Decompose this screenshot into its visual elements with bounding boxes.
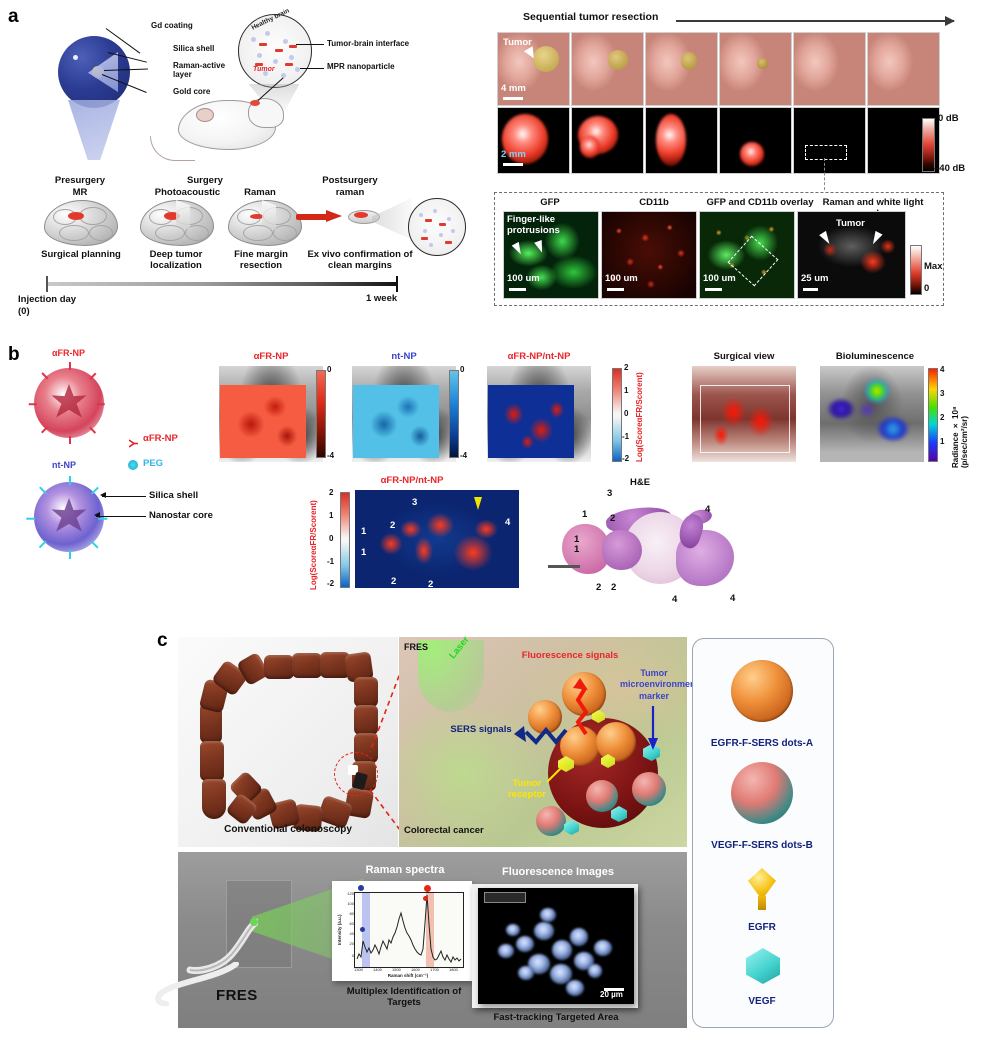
- histology-title-2: GFP and CD11b overlay: [700, 198, 820, 209]
- label-nt-np-particle: nt-NP: [52, 460, 76, 470]
- raman-spectra-caption: Multiplex Identification of Targets: [330, 986, 478, 1009]
- label-tumor-brain-interface: Tumor-brain interface: [327, 40, 409, 49]
- raman-spectra-caption-text: Multiplex Identification of Targets: [347, 986, 462, 1008]
- surgical-roi-box: [700, 385, 790, 453]
- roi-dashed-box[interactable]: [805, 145, 847, 160]
- colorbar-tissue-ratio: [340, 492, 350, 588]
- scalebar-raman: [503, 163, 523, 166]
- scalebar-cd11b: [607, 288, 624, 291]
- spectra-ytick-0: 0: [352, 954, 354, 958]
- fluorescence-signals-label: Fluorescence signals: [515, 650, 625, 661]
- colorbar-ratio: [612, 368, 622, 462]
- annotation-finger-like: Finger-like protrusions: [507, 215, 573, 236]
- legend-label-vegf: VEGF: [694, 996, 830, 1007]
- stage-3-caption: Ex vivo confirmation of clean margins: [306, 250, 414, 271]
- arrowhead-nanostar-core: [94, 512, 100, 518]
- histology-image-cd11b: [601, 211, 697, 299]
- stage-0-subtitle: MR: [30, 188, 130, 199]
- tissue-ratio-title: αFR-NP/nt-NP: [352, 476, 472, 487]
- leader-mpr-nanoparticle: [300, 68, 324, 69]
- nt-peg-6: [26, 518, 35, 520]
- stage-0-caption: Surgical planning: [22, 250, 140, 261]
- specimen-tumor-spot: [354, 212, 368, 218]
- stage-3-subtitle: raman: [300, 188, 400, 199]
- scalebar-gfp: [509, 288, 526, 291]
- resection-photo-2: [645, 32, 718, 106]
- sers-signals-text: SERS signals: [450, 724, 511, 735]
- tumor-microenvironment-label: Tumor microenvironment marker: [620, 668, 688, 702]
- spectra-xtick-1700: 1700: [430, 967, 439, 972]
- timeline-bar: [46, 282, 398, 286]
- colorbar-max-top: Max: [924, 262, 942, 273]
- label-nanostar-core: Nanostar core: [149, 511, 213, 522]
- raman-spectra-title: Raman spectra: [330, 864, 480, 876]
- spectra-yticks: 120 100 80 60 40 20 0: [344, 890, 354, 968]
- spectra-marker-red-inplot-icon: [423, 896, 428, 901]
- spectra-ytick-120: 120: [347, 892, 354, 896]
- sers-dot-b-2: [632, 772, 666, 806]
- legend-label-vegf-sers-dots: VEGF-F-SERS dots-B: [694, 840, 830, 851]
- leader-nanostar-core: [96, 516, 146, 517]
- nt-peg-5: [39, 541, 46, 548]
- colorbar-nt: [449, 370, 459, 458]
- sequential-resection-header: Sequential tumor resection: [523, 12, 658, 24]
- legend-icon-egfr-sers-dot: [731, 660, 793, 722]
- legend-peg-label: PEG: [143, 459, 163, 470]
- legend-afr-np-label: αFR-NP: [143, 434, 178, 445]
- stage-2-caption: Fine margin resection: [222, 250, 300, 271]
- colorbar-db-top: 0 dB: [938, 114, 959, 125]
- tissue-num-1a: 1: [361, 527, 366, 538]
- label-gd-coating: Gd coating: [151, 22, 193, 31]
- scalebar-overlay-label: 100 um: [703, 274, 736, 285]
- mouse-tail: [150, 136, 195, 161]
- bimg-title-nt: nt-NP: [352, 352, 456, 363]
- tissue-num-4c: 4: [505, 518, 510, 529]
- legend-peg-icon: [128, 460, 138, 470]
- colorbar-afr-bottom: -4: [327, 452, 334, 461]
- tissue-num-4a: 4: [456, 594, 461, 605]
- tissue-num-2c: 2: [428, 580, 433, 591]
- legend-icon-vegf-sers-dot: [731, 762, 793, 824]
- hne-num-4b: 4: [672, 595, 677, 606]
- timeline-tick-start: [46, 276, 48, 292]
- scalebar-raman-overlay-label: 25 um: [801, 274, 828, 285]
- annotation-tumor-raman: Tumor: [836, 219, 865, 230]
- stage-1-title: Surgery: [155, 176, 255, 187]
- hne-num-4a: 4: [705, 505, 710, 516]
- fluorescence-image: [478, 888, 634, 1004]
- microenvironment-arrow-icon: [648, 706, 658, 750]
- label-gold-core: Gold core: [173, 88, 210, 97]
- sers-signals-label: SERS signals: [450, 724, 512, 735]
- tissue-num-4b: 4: [512, 594, 517, 605]
- sequential-arrow-icon: [676, 20, 954, 22]
- resection-raman-4: [793, 107, 866, 174]
- colorbar-nt-top: 0: [460, 366, 464, 375]
- sers-dot-b-1: [586, 780, 618, 812]
- raman-spectra-plot: [354, 892, 464, 968]
- spectra-ytick-60: 60: [350, 922, 354, 926]
- label-tumor-inset: Tumor: [253, 66, 275, 74]
- bimg-afr: [219, 366, 323, 462]
- spectra-xtick-1300: 1300: [354, 967, 363, 972]
- label-mpr-nanoparticle: MPR nanoparticle: [327, 63, 395, 72]
- timeline-tick-end: [396, 276, 398, 292]
- spectra-marker-blue-inplot-icon: [360, 927, 365, 932]
- hne-section-image: [560, 488, 760, 592]
- fluorescence-scalebar-label: 20 µm: [600, 991, 623, 1000]
- sers-dot-a-4: [596, 722, 636, 762]
- stage-1-subtitle: Photoacoustic: [140, 188, 235, 199]
- label-afr-np-particle: αFR-NP: [52, 348, 85, 358]
- healthy-brain-inset: [238, 14, 312, 88]
- nt-peg-3: [91, 541, 98, 548]
- colorbar-db-bottom: –40 dB: [934, 164, 965, 175]
- legend-label-egfr: EGFR: [694, 922, 830, 933]
- resection-photo-1: [571, 32, 644, 106]
- hne-num-1c: 1: [574, 545, 579, 556]
- colorbar-afr: [316, 370, 326, 458]
- spectra-xtick-1500: 1500: [392, 967, 401, 972]
- histology-title-0: GFP: [505, 198, 595, 209]
- tumor-nodule-0: [533, 46, 559, 72]
- fluorescence-images-title: Fluorescence Images: [478, 866, 638, 878]
- heatmap-ratio: [488, 385, 574, 458]
- panel-b-letter: b: [8, 344, 20, 366]
- arrowhead-silica-shell: [100, 492, 106, 498]
- tumor-nodule-2: [681, 52, 697, 70]
- fluorescence-images-caption: Fast-tracking Targeted Area: [478, 1012, 634, 1023]
- colorbar-biolum-tick-1: 3: [940, 390, 944, 399]
- hne-num-3: 3: [607, 489, 612, 500]
- spectra-marker-blue-icon: [358, 885, 364, 891]
- fres-label-bottom: FRES: [216, 988, 258, 1005]
- timeline-end-label: 1 week: [366, 294, 397, 305]
- scalebar-photo-label: 4 mm: [501, 84, 526, 95]
- colorbar-max: [910, 245, 922, 295]
- roi-connector-line: [824, 158, 825, 190]
- tissue-ratio-image: [355, 490, 519, 588]
- tumor-spot-presurgery: [68, 212, 84, 220]
- scalebar-raman-label: 2 mm: [501, 150, 526, 161]
- spectra-ylabel: Intensity (a.u.): [338, 900, 343, 960]
- colorectal-cancer-caption: Colorectal cancer: [404, 826, 484, 837]
- resection-photo-4: [793, 32, 866, 106]
- tumor-nodule-1: [608, 50, 628, 70]
- spectra-xtick-1800: 1800: [449, 967, 458, 972]
- afr-spike-2: [97, 403, 105, 405]
- panel-a-letter: a: [8, 6, 19, 28]
- spectra-ytick-40: 40: [350, 932, 354, 936]
- mouse-ear: [196, 108, 214, 122]
- tissue-num-2b: 2: [391, 577, 396, 588]
- colorbar-max-bottom: 0: [924, 284, 929, 295]
- heatmap-afr: [220, 385, 306, 458]
- colorbar-biolum-tick-0: 4: [940, 366, 944, 375]
- resection-photo-5: [867, 32, 940, 106]
- brain-presurgery: [44, 200, 118, 246]
- spectra-xtick-1600: 1600: [411, 967, 420, 972]
- fres-label-scene: FRES: [404, 642, 428, 652]
- nt-peg-4: [69, 550, 71, 559]
- colorbar-biolum-tick-3: 1: [940, 438, 944, 447]
- stage-1-caption: Deep tumor localization: [138, 250, 214, 271]
- colorbar-tissue-tick-4: -2: [327, 580, 334, 589]
- colorbar-tissue-tick-2: 0: [329, 535, 333, 544]
- timeline-start-text: Injection day (0): [18, 294, 76, 317]
- hne-scalebar: [548, 565, 580, 568]
- hne-lobe-mid: [602, 530, 642, 570]
- tissue-num-1b: 1: [361, 548, 366, 559]
- bimg-title-afr: αFR-NP: [219, 352, 323, 363]
- histology-title-1: CD11b: [609, 198, 699, 209]
- postsurgery-inset: [408, 198, 466, 256]
- tumor-microenvironment-text: Tumor microenvironment marker: [620, 668, 699, 701]
- colorbar-ratio-tick-4: -2: [622, 455, 629, 464]
- spectra-line: [355, 893, 463, 967]
- bimg-title-ratio-text: αFR-NP/nt-NP: [508, 351, 571, 362]
- legend-icon-egfr-stem: [758, 896, 766, 910]
- colorbar-biolum-label: Radiance × 10⁸ (p/sec/cm²/sr): [952, 362, 970, 468]
- tumor-receptor-text: Tumor receptor: [508, 778, 546, 800]
- fluorescence-images-caption-text: Fast-tracking Targeted Area: [493, 1012, 618, 1023]
- scalebar-raman-overlay: [803, 288, 818, 291]
- bimg-title-surgical: Surgical view: [692, 352, 796, 363]
- bimg-ratio: [487, 366, 591, 462]
- label-raman-active-layer: Raman-active layer: [173, 62, 229, 80]
- nt-peg-0: [69, 476, 71, 485]
- hne-num-2a: 2: [610, 514, 615, 525]
- sers-arrow-icon: [508, 724, 570, 750]
- afr-spike-6: [29, 403, 37, 405]
- heatmap-nt: [353, 385, 439, 458]
- bimg-nt: [352, 366, 456, 462]
- spectra-marker-red-icon: [424, 885, 431, 892]
- leader-silica-shell-b: [102, 496, 146, 497]
- colorbar-biolum-tick-2: 2: [940, 414, 944, 423]
- tissue-num-3: 3: [412, 498, 417, 509]
- colorbar-ratio-tick-0: 2: [624, 364, 628, 373]
- colorbar-ratio-label: Log(ScoreαFR/Scorent): [636, 366, 645, 462]
- spectra-ytick-20: 20: [350, 942, 354, 946]
- hne-num-4c: 4: [730, 594, 735, 605]
- legend-antibody-icon: [129, 435, 138, 444]
- hne-num-1a: 1: [582, 510, 587, 521]
- resection-raman-3: [719, 107, 792, 174]
- tumor-spot-raman: [250, 214, 264, 219]
- panel-c-letter: c: [157, 630, 168, 652]
- nanoparticle-beam: [68, 100, 120, 160]
- tissue-yellow-arrow-icon: [474, 497, 482, 510]
- bimg-title-ratio: αFR-NP/nt-NP: [479, 352, 599, 363]
- colorbar-ratio-tick-2: 0: [624, 410, 628, 419]
- resection-raman-2: [645, 107, 718, 174]
- resection-photo-3: [719, 32, 792, 106]
- afr-spike-4: [69, 436, 71, 444]
- stage-2-subtitle: Raman: [225, 188, 295, 199]
- red-arrow-postsurgery: [296, 210, 342, 222]
- sers-dot-b-3: [536, 806, 566, 836]
- bimg-biolum: [820, 366, 924, 462]
- colorbar-ratio-tick-3: -1: [622, 433, 629, 442]
- spectra-ytick-100: 100: [347, 902, 354, 906]
- colorbar-ratio-tick-1: 1: [624, 387, 628, 396]
- afr-spike-0: [69, 362, 71, 370]
- colorbar-tissue-label: Log(ScoreαFR/Scorent): [310, 490, 319, 590]
- tumor-label-photo: Tumor: [503, 38, 532, 49]
- resection-raman-1: [571, 107, 644, 174]
- colorbar-afr-top: 0: [327, 366, 331, 375]
- colorbar-tissue-tick-1: 1: [329, 512, 333, 521]
- scalebar-overlay: [705, 288, 722, 291]
- fluorescence-badge: [484, 892, 526, 903]
- spectra-xtick-1400: 1400: [373, 967, 382, 972]
- tissue-num-2a: 2: [390, 521, 395, 532]
- tumor-receptor-pointer: [545, 762, 569, 784]
- colorbar-tissue-tick-0: 2: [329, 489, 333, 498]
- colorbar-nt-bottom: -4: [460, 452, 467, 461]
- legend-label-egfr-sers-dots: EGFR-F-SERS dots-A: [694, 738, 830, 749]
- spectra-ytick-80: 80: [350, 912, 354, 916]
- label-silica-shell-b: Silica shell: [149, 491, 198, 502]
- label-silica-shell: Silica shell: [173, 45, 214, 54]
- scalebar-gfp-label: 100 um: [507, 274, 540, 285]
- hne-num-2b: 2: [596, 583, 601, 594]
- stage-0-title: Presurgery: [30, 176, 130, 187]
- hne-num-2c: 2: [611, 583, 616, 594]
- stage-3-title: Postsurgery: [300, 176, 400, 187]
- timeline-start-label: Injection day (0): [18, 294, 88, 318]
- tumor-nodule-3: [757, 58, 768, 69]
- scalebar-photo: [503, 97, 523, 100]
- fluorescence-signals-text: Fluorescence signals: [522, 650, 619, 661]
- specimen-magnify-cone: [372, 198, 412, 240]
- bimg-title-biolum: Bioluminescence: [820, 352, 930, 363]
- colorbar-tissue-tick-3: -1: [327, 558, 334, 567]
- mouse-tumor-spot: [250, 100, 260, 106]
- spectra-xticks: 1300 1400 1500 1600 1700 1800: [352, 967, 468, 975]
- scalebar-cd11b-label: 100 um: [605, 274, 638, 285]
- leader-tumor-brain-interface: [296, 44, 324, 45]
- nanoparticle-highlight: [73, 55, 78, 60]
- colorbar-biolum: [928, 368, 938, 462]
